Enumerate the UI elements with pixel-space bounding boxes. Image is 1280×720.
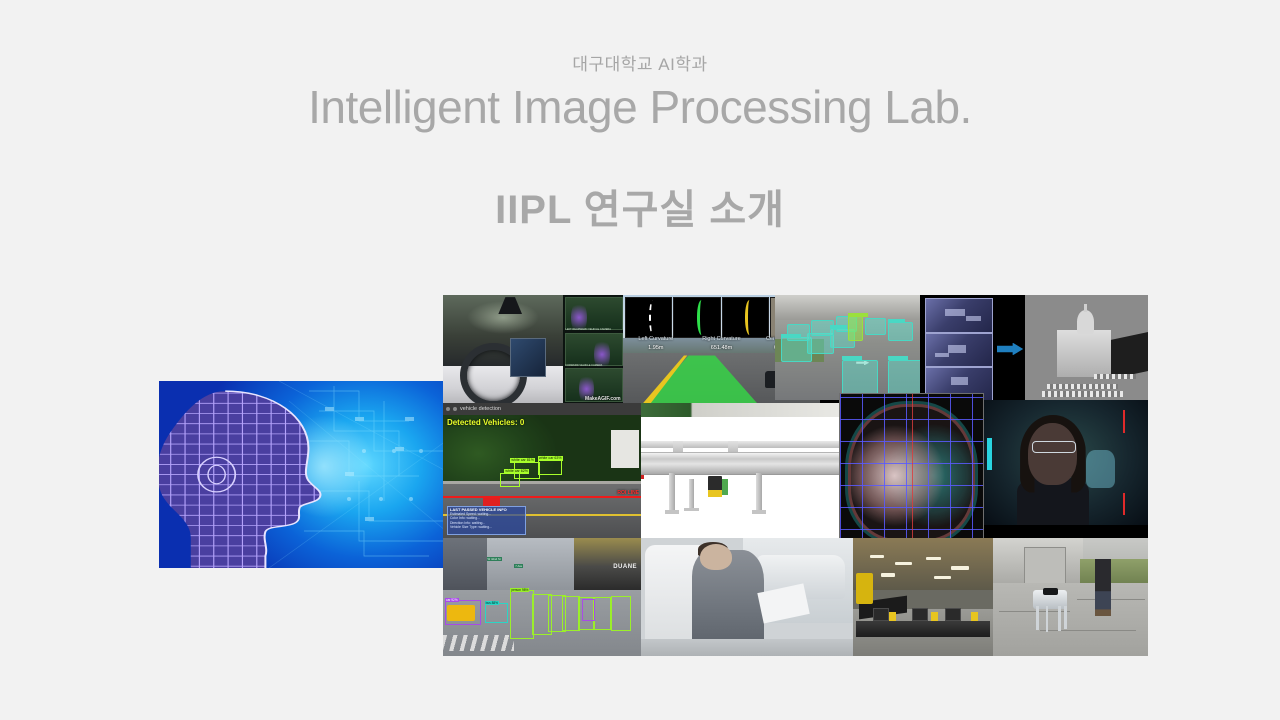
satellite-view-1 <box>925 298 993 332</box>
eyeglasses-icon <box>1032 441 1077 453</box>
hud-label-right-curvature: Right Curvature <box>689 336 754 342</box>
hud-value-right-curvature: 651.48m <box>689 345 754 351</box>
ceiling-light-2 <box>895 562 912 566</box>
collage-tile-pedestrian-detection: DUANE person 98% car 92% bus 88% W 42nd … <box>443 538 641 656</box>
section-title: IIPL 연구실 소개 <box>0 183 1280 237</box>
robot-leg-3 <box>1058 606 1060 631</box>
thermal-label-2: FORWARD VEHICLE CAMERA <box>565 364 620 367</box>
vehicle-tag-5 <box>842 356 862 360</box>
crosswalk-markings <box>443 635 514 652</box>
storefront-sign: DUANE <box>613 564 637 570</box>
vehicle-detection-window-titlebar[interactable]: vehicle detection <box>443 403 641 415</box>
collage-tile-thermal-cameras: LEFT REARWARD VEHICLE CAMERA FORWARD VEH… <box>563 295 623 403</box>
lab-name-title: Intelligent Image Processing Lab. <box>0 78 1280 136</box>
collage-tile-tesla-cockpit <box>443 295 563 403</box>
vehicle-label-2: bus 88% <box>485 601 499 605</box>
window-dot-1 <box>446 407 450 411</box>
roadside-house <box>611 430 639 468</box>
street-sign-1: W 42nd St <box>487 557 502 561</box>
vehicle-tag-highlight <box>848 313 868 317</box>
collage-tile-vehicle-detection: white car 81% white car 63% white car 62… <box>443 403 641 538</box>
guardrail-beam <box>641 452 839 476</box>
research-image-collage: LEFT REARWARD VEHICLE CAMERA FORWARD VEH… <box>443 295 1148 656</box>
collage-tile-pipeline-arrow <box>995 333 1025 365</box>
sensor-yellow-band <box>708 490 722 497</box>
collage-tile-autonomous-cabin <box>641 538 853 656</box>
detection-box-3 <box>500 473 520 487</box>
street-sign-2: 7 Ave <box>514 564 523 568</box>
collage-tile-parking-3d-detection <box>775 295 920 400</box>
robot-leg-2 <box>1046 606 1048 632</box>
window-dot-2 <box>453 407 457 411</box>
last-passed-vehicle-info-panel: LAST PASSED VEHICLE INFO Estimated Speed… <box>447 506 526 536</box>
red-vehicle <box>483 496 501 505</box>
upper-rail <box>641 441 839 448</box>
ceiling-light-1 <box>870 555 884 559</box>
header-title-block: 대구대학교 AI학과 Intelligent Image Processing … <box>0 54 1280 136</box>
lane-thumb-2 <box>673 297 720 338</box>
vehicle-box-highlight <box>848 316 863 341</box>
parking-row-1 <box>1042 391 1123 396</box>
vehicle-box-8 <box>888 322 913 341</box>
conveyor-belt <box>856 621 990 638</box>
person-label-1: person 98% <box>510 588 529 592</box>
cyan-marker-left <box>987 438 992 471</box>
collage-tile-quadruped-robot <box>993 538 1148 656</box>
vehicle-tag-3 <box>888 319 905 323</box>
detection-box-taxi <box>445 600 481 626</box>
shadow-block <box>1111 332 1148 379</box>
capitol-building <box>1057 330 1111 378</box>
person-box-8 <box>582 599 596 621</box>
detection-label-1: white car 81% <box>510 458 535 463</box>
info-panel-line-4: Vehicle Size Type: waiting... <box>450 525 523 529</box>
collage-tile-warehouse-automation <box>853 538 993 656</box>
collage-tile-satellite-tiles <box>920 295 995 403</box>
detected-vehicle-counter: Detected Vehicles: 0 <box>447 418 524 427</box>
walking-person <box>1095 559 1111 616</box>
raised-hand <box>1086 450 1116 488</box>
cabin-floor <box>641 639 853 656</box>
ceiling-light-4 <box>951 566 969 570</box>
detection-label-3: white car 62% <box>504 469 529 474</box>
person-box-7 <box>611 596 631 631</box>
vehicle-label-1: car 92% <box>445 598 459 602</box>
garage-door <box>1024 547 1066 587</box>
hud-value-left-curvature: 1.95m <box>623 345 688 351</box>
capitol-spire <box>1084 304 1086 313</box>
support-post-1 <box>669 473 675 514</box>
warehouse-ceiling <box>853 538 993 590</box>
mounted-sensor <box>708 476 722 498</box>
vehicle-box-10 <box>842 360 879 396</box>
ceiling-light-5 <box>881 573 895 577</box>
lane-thumb-3 <box>722 297 769 338</box>
vehicle-box-7 <box>865 318 886 335</box>
yellow-guard-1 <box>889 612 896 620</box>
detection-label-2: white car 63% <box>538 456 563 461</box>
red-marker-top <box>1123 410 1125 433</box>
tote-3 <box>945 608 961 621</box>
ceiling-light-3 <box>926 557 941 561</box>
person-face <box>1028 423 1077 486</box>
hud-label-left-curvature: Left Curvature <box>623 336 688 342</box>
right-arrow-icon <box>997 343 1023 356</box>
tote-2 <box>912 608 928 621</box>
capitol-dome <box>1077 310 1094 334</box>
ai-wireframe-head-image <box>159 381 446 568</box>
ceiling-light-6 <box>934 576 951 580</box>
parking-row-3 <box>1094 374 1136 379</box>
scene-top-strip <box>641 403 839 417</box>
collage-tile-medical-registration <box>839 393 984 553</box>
detection-box-2 <box>538 460 562 476</box>
center-display <box>510 338 546 377</box>
robot-head-sensor <box>1043 588 1059 595</box>
lane-thumb-1 <box>625 297 672 338</box>
midline-marker <box>912 394 913 552</box>
department-line: 대구대학교 AI학과 <box>0 54 1280 76</box>
red-marker-bottom <box>1123 493 1125 516</box>
robot-leg-1 <box>1036 606 1038 630</box>
gif-watermark: MakeAGIF.com <box>585 396 621 402</box>
grass-field <box>1080 559 1148 585</box>
passenger-head <box>700 544 732 570</box>
tote-1 <box>873 608 889 621</box>
yellow-guard-3 <box>971 612 978 620</box>
collage-tile-city-3d-reconstruction <box>1025 295 1148 403</box>
vehicle-box-9 <box>888 360 920 396</box>
person-box-1 <box>510 590 534 639</box>
vehicle-tag-1 <box>781 334 801 338</box>
support-post-3 <box>689 479 695 511</box>
window-title-text: vehicle detection <box>460 406 501 412</box>
left-building <box>443 538 487 592</box>
concrete-pavement <box>993 583 1148 656</box>
support-post-2 <box>756 473 762 514</box>
roi-line <box>443 496 641 498</box>
parking-row-2 <box>1047 384 1118 389</box>
person-box-6 <box>593 597 611 630</box>
yellow-robot-arm <box>856 573 873 604</box>
roi-line-label: ROI LINE <box>617 490 639 496</box>
vehicle-box-4 <box>787 324 811 341</box>
collage-tile-guardrail-3d-render <box>641 403 839 538</box>
vehicle-tag-4 <box>888 356 908 360</box>
vehicle-tag-2 <box>830 325 847 329</box>
collage-tile-face-gesture <box>984 400 1148 525</box>
satellite-view-2 <box>925 333 993 367</box>
yellow-guard-2 <box>931 612 938 620</box>
thermal-label-1: LEFT REARWARD VEHICLE CAMERA <box>565 328 620 331</box>
wireframe-head-icon <box>159 385 343 568</box>
pavement-crack-2 <box>1040 630 1136 631</box>
detection-box-car <box>485 603 509 623</box>
sensor-cable <box>722 479 728 495</box>
robot-leg-4 <box>1064 606 1066 628</box>
